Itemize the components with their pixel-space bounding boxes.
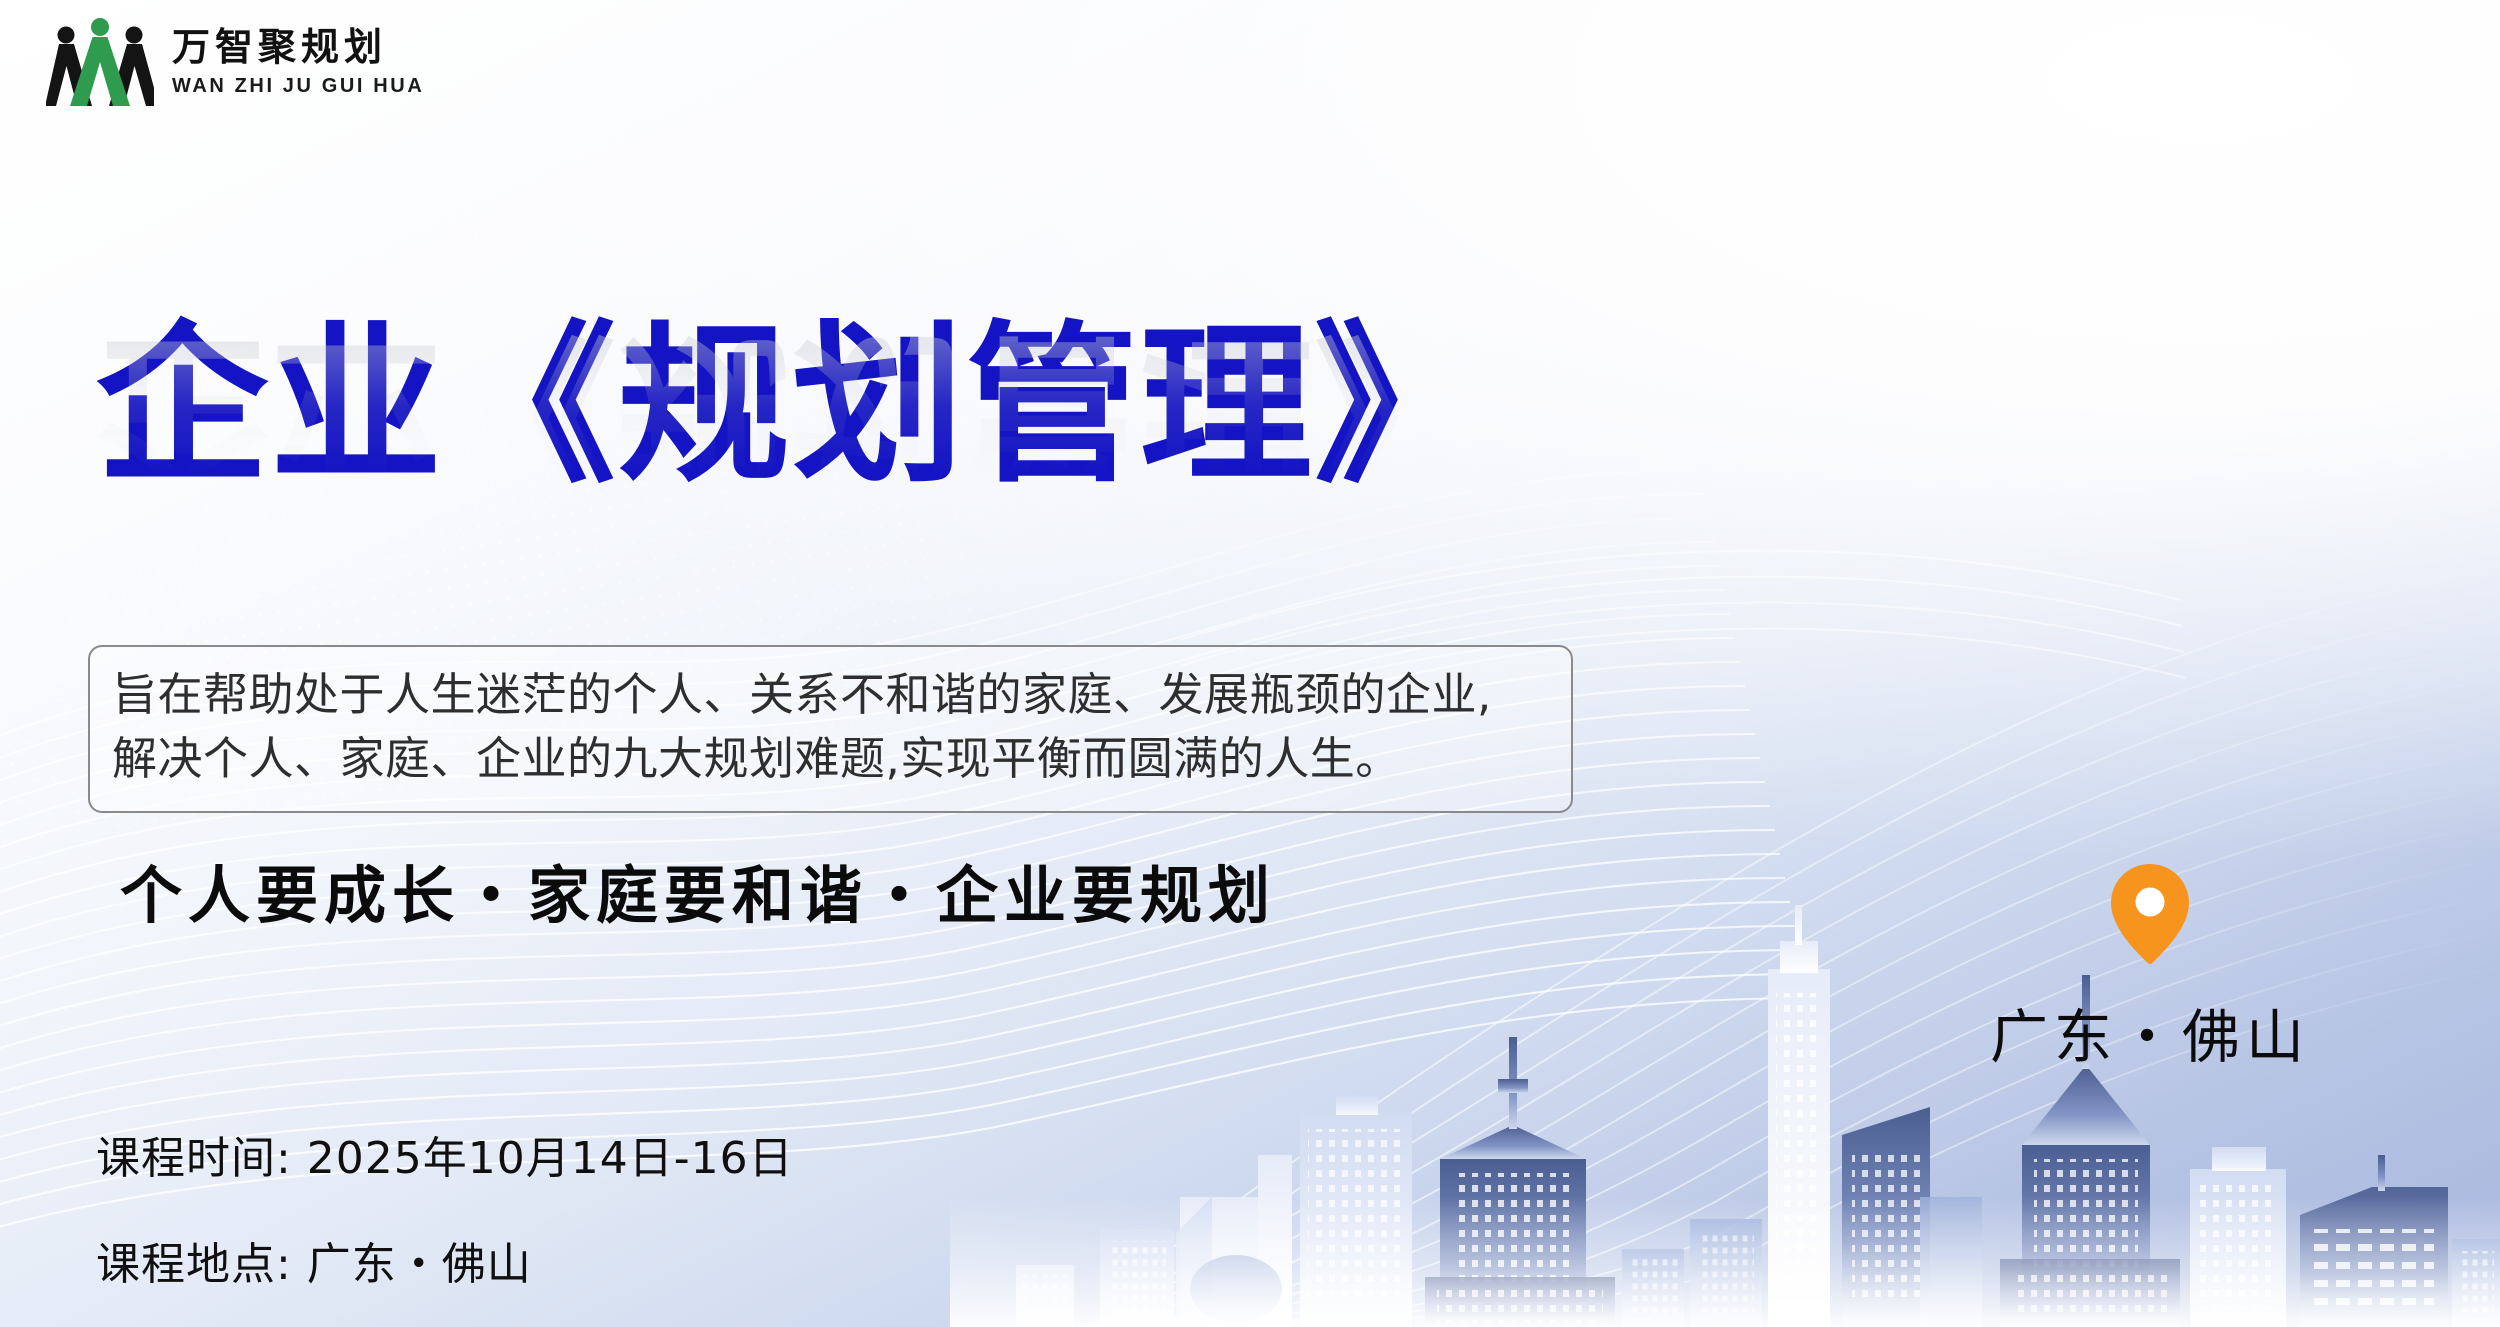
logo-text-block: 万智聚规划 WAN ZHI JU GUI HUA (172, 29, 424, 96)
map-pin-icon (2108, 862, 2192, 966)
headline-block: 企业《规划管理》 企业《规划管理》 (96, 320, 1656, 670)
description-line-2: 解决个人、家庭、企业的九大规划难题,实现平衡而圆满的人生。 (112, 727, 1549, 791)
course-place: 课程地点: 广东・佛山 (96, 1228, 794, 1292)
brand-logo: 万智聚规划 WAN ZHI JU GUI HUA (46, 18, 424, 106)
location-block: 广东・佛山 (1950, 862, 2350, 1074)
brand-name-en: WAN ZHI JU GUI HUA (172, 76, 424, 96)
course-time: 课程时间: 2025年10月14日-16日 (96, 1122, 794, 1186)
tagline: 个人要成长・家庭要和谐・企业要规划 (120, 845, 1276, 935)
headline-reflection: 企业《规划管理》 (96, 326, 1656, 498)
description-box: 旨在帮助处于人生迷茫的个人、关系不和谐的家庭、发展瓶颈的企业, 解决个人、家庭、… (88, 645, 1573, 813)
location-label: 广东・佛山 (1950, 990, 2350, 1074)
promotional-banner: 万智聚规划 WAN ZHI JU GUI HUA 企业《规划管理》 企业《规划管… (0, 0, 2500, 1327)
description-line-1: 旨在帮助处于人生迷茫的个人、关系不和谐的家庭、发展瓶颈的企业, (112, 663, 1549, 727)
course-info-block: 课程时间: 2025年10月14日-16日 课程地点: 广东・佛山 (96, 1122, 794, 1292)
brand-name-cn: 万智聚规划 (172, 29, 424, 67)
three-people-m-logo-icon (46, 18, 154, 106)
